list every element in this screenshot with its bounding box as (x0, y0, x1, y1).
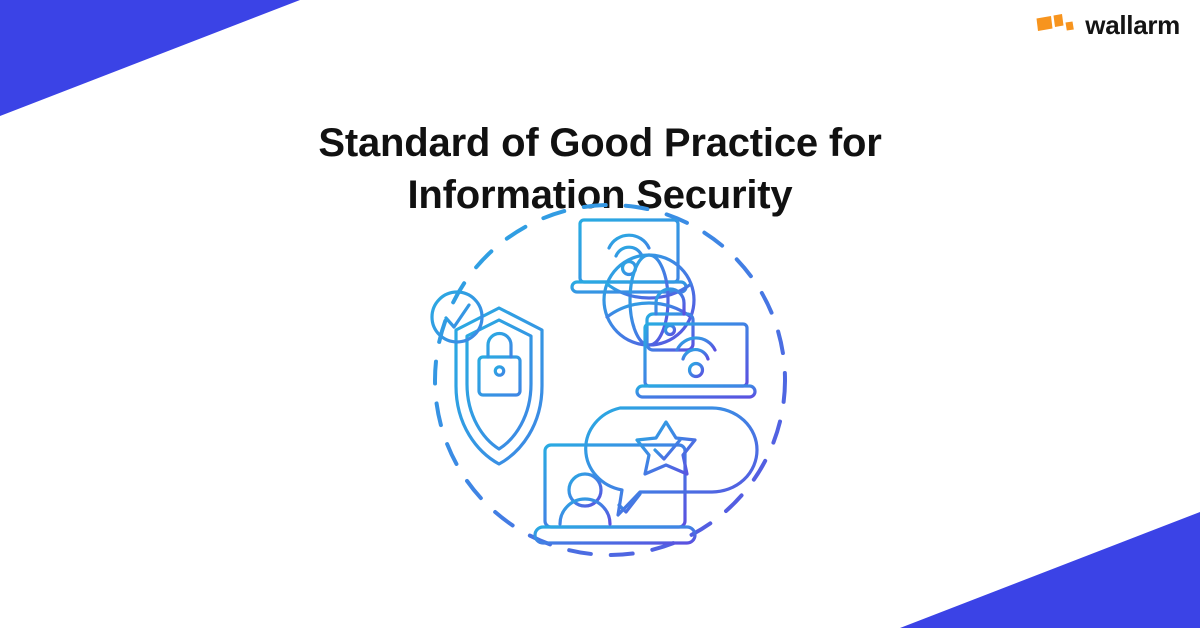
illustration-svg (415, 190, 805, 570)
laptop-wifi-secondary-icon (637, 324, 755, 397)
speech-bubble-star-check-icon (586, 408, 757, 515)
poster-canvas: wallarm Standard of Good Practice for In… (0, 0, 1200, 628)
laptop-user-review-icon (535, 445, 695, 550)
shield-lock-icon (456, 308, 542, 464)
dashed-circle-outline (435, 205, 785, 555)
brand-logo[interactable]: wallarm (1036, 12, 1180, 38)
laptop-wifi-icon (572, 220, 686, 292)
page-title-line-1: Standard of Good Practice for (0, 117, 1200, 169)
top-left-triangle (0, 0, 300, 116)
bottom-right-triangle (900, 512, 1200, 628)
globe-lock-icon (604, 255, 694, 350)
information-security-illustration (415, 190, 805, 570)
wallarm-bolt-icon (1036, 12, 1076, 38)
brand-name: wallarm (1085, 12, 1180, 38)
